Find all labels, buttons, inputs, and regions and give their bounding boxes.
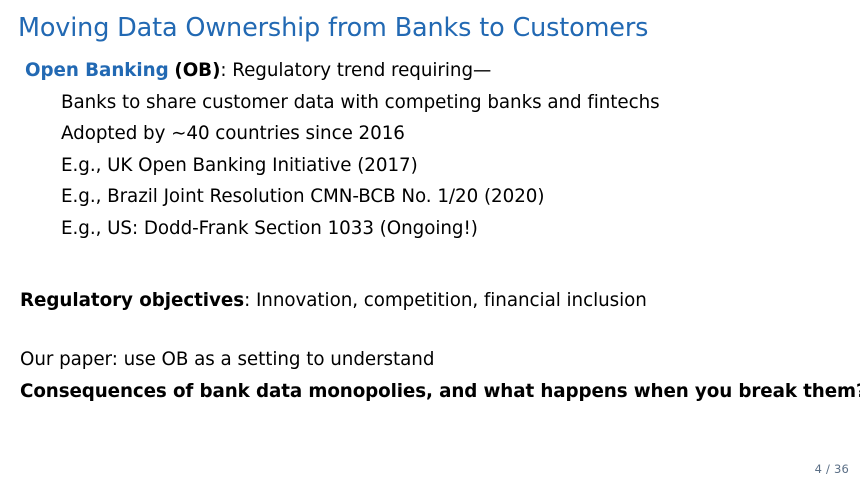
regulatory-objectives-text: : Innovation, competition, financial inc…	[244, 290, 647, 311]
page-title: Moving Data Ownership from Banks to Cust…	[18, 13, 648, 43]
page-number: 4 / 36	[815, 462, 849, 476]
list-item: Adopted by ∼40 countries since 2016	[0, 118, 860, 150]
paper-question-line: Consequences of bank data monopolies, an…	[0, 376, 860, 408]
slide: Moving Data Ownership from Banks to Cust…	[0, 0, 860, 482]
slide-body: Open Banking (OB): Regulatory trend requ…	[0, 55, 860, 407]
list-item: E.g., UK Open Banking Initiative (2017)	[0, 150, 860, 182]
open-banking-definition-line: Open Banking (OB): Regulatory trend requ…	[0, 55, 860, 87]
regulatory-objectives-line: Regulatory objectives: Innovation, compe…	[0, 285, 860, 317]
section-spacer	[0, 245, 860, 285]
open-banking-term: Open Banking	[25, 60, 169, 81]
paper-intro-line: Our paper: use OB as a setting to unders…	[0, 344, 860, 376]
open-banking-abbreviation: (OB)	[174, 60, 220, 81]
open-banking-definition-text: : Regulatory trend requiring—	[220, 60, 491, 81]
section-spacer	[0, 316, 860, 344]
list-item: E.g., US: Dodd-Frank Section 1033 (Ongoi…	[0, 213, 860, 245]
list-item: Banks to share customer data with compet…	[0, 87, 860, 119]
list-item: E.g., Brazil Joint Resolution CMN-BCB No…	[0, 181, 860, 213]
regulatory-objectives-label: Regulatory objectives	[20, 290, 244, 311]
